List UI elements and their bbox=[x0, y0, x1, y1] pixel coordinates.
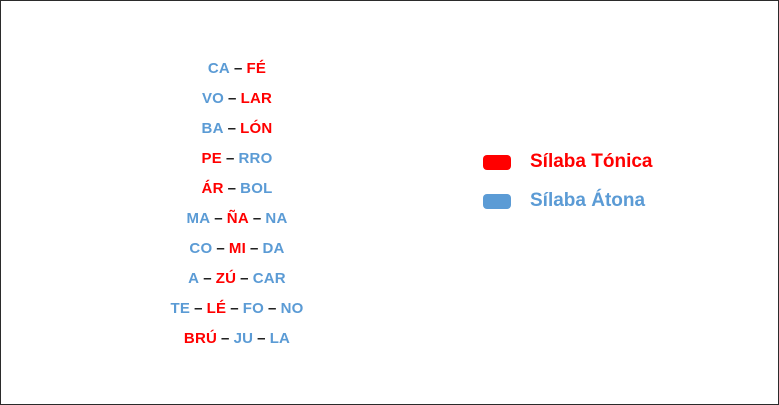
legend-item-tonic: Sílaba Tónica bbox=[483, 151, 652, 173]
syllable-atonic: BOL bbox=[240, 180, 272, 197]
word-row: MA–ÑA–NA bbox=[97, 203, 377, 233]
syllable-atonic: TE bbox=[171, 300, 191, 317]
word-row: VO–LAR bbox=[97, 83, 377, 113]
syllable-separator: – bbox=[226, 300, 243, 317]
syllable-separator: – bbox=[224, 90, 241, 107]
word-row: A–ZÚ–CAR bbox=[97, 263, 377, 293]
syllable-atonic: A bbox=[188, 270, 199, 287]
word-row: TE–LÉ–FO–NO bbox=[97, 293, 377, 323]
syllable-tonic: ÑA bbox=[227, 210, 249, 227]
syllable-tonic: LÓN bbox=[240, 120, 272, 137]
legend-item-atonic: Sílaba Átona bbox=[483, 190, 652, 212]
syllable-atonic: BA bbox=[202, 120, 224, 137]
syllable-atonic: NA bbox=[265, 210, 287, 227]
word-row: CO–MI–DA bbox=[97, 233, 377, 263]
syllable-atonic: MA bbox=[187, 210, 211, 227]
syllable-atonic: CA bbox=[208, 60, 230, 77]
syllable-separator: – bbox=[246, 240, 263, 257]
syllable-separator: – bbox=[222, 150, 239, 167]
syllable-separator: – bbox=[236, 270, 253, 287]
syllable-tonic: LÉ bbox=[207, 300, 227, 317]
word-row: ÁR–BOL bbox=[97, 173, 377, 203]
syllable-tonic: BRÚ bbox=[184, 330, 217, 347]
syllable-separator: – bbox=[217, 330, 234, 347]
syllable-separator: – bbox=[190, 300, 207, 317]
syllable-atonic: FO bbox=[243, 300, 264, 317]
syllable-tonic: FÉ bbox=[247, 60, 267, 77]
word-row: BRÚ–JU–LA bbox=[97, 323, 377, 353]
word-row: BA–LÓN bbox=[97, 113, 377, 143]
legend: Sílaba TónicaSílaba Átona bbox=[483, 151, 652, 212]
legend-label: Sílaba Tónica bbox=[530, 151, 652, 173]
legend-swatch-icon bbox=[483, 155, 511, 170]
syllable-separator: – bbox=[230, 60, 247, 77]
syllable-tonic: ÁR bbox=[202, 180, 224, 197]
syllable-separator: – bbox=[199, 270, 216, 287]
diagram-canvas: CA–FÉVO–LARBA–LÓNPE–RROÁR–BOLMA–ÑA–NACO–… bbox=[0, 0, 779, 405]
syllable-tonic: ZÚ bbox=[216, 270, 236, 287]
syllable-tonic: LAR bbox=[241, 90, 272, 107]
syllable-separator: – bbox=[224, 120, 241, 137]
syllable-atonic: NO bbox=[281, 300, 304, 317]
syllable-separator: – bbox=[264, 300, 281, 317]
syllable-atonic: LA bbox=[270, 330, 290, 347]
syllable-atonic: JU bbox=[234, 330, 254, 347]
syllable-separator: – bbox=[212, 240, 229, 257]
syllable-atonic: DA bbox=[263, 240, 285, 257]
syllable-atonic: CO bbox=[189, 240, 212, 257]
word-row: PE–RRO bbox=[97, 143, 377, 173]
syllable-separator: – bbox=[224, 180, 241, 197]
syllable-word-list: CA–FÉVO–LARBA–LÓNPE–RROÁR–BOLMA–ÑA–NACO–… bbox=[97, 53, 377, 353]
syllable-atonic: CAR bbox=[253, 270, 286, 287]
syllable-separator: – bbox=[253, 330, 270, 347]
syllable-tonic: PE bbox=[202, 150, 222, 167]
legend-label: Sílaba Átona bbox=[530, 190, 645, 212]
syllable-atonic: VO bbox=[202, 90, 224, 107]
syllable-atonic: RRO bbox=[239, 150, 273, 167]
word-row: CA–FÉ bbox=[97, 53, 377, 83]
syllable-separator: – bbox=[249, 210, 266, 227]
legend-swatch-icon bbox=[483, 194, 511, 209]
syllable-separator: – bbox=[210, 210, 227, 227]
syllable-tonic: MI bbox=[229, 240, 246, 257]
